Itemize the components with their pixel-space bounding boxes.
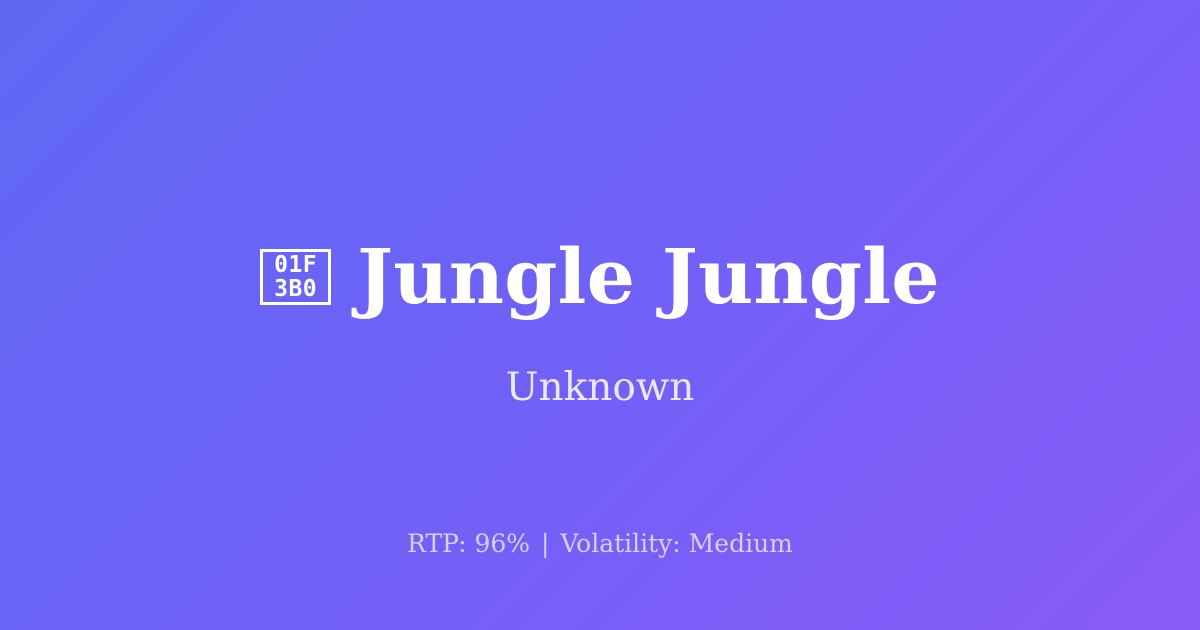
title-row: 01F 3B0 Jungle Jungle [0, 232, 1200, 322]
game-stats: RTP: 96% | Volatility: Medium [0, 528, 1200, 560]
game-title: Jungle Jungle [357, 232, 940, 322]
stats-separator: | [538, 529, 552, 558]
slot-machine-emoji: 01F 3B0 [260, 249, 331, 305]
game-share-card: 01F 3B0 Jungle Jungle Unknown RTP: 96% |… [0, 0, 1200, 630]
slot-machine-emoji-codepoint-top: 01F [274, 253, 317, 277]
game-provider: Unknown [0, 363, 1200, 413]
volatility-stat: Volatility: Medium [560, 529, 792, 558]
rtp-stat: RTP: 96% [407, 529, 530, 558]
slot-machine-emoji-codepoint-bottom: 3B0 [274, 277, 317, 301]
